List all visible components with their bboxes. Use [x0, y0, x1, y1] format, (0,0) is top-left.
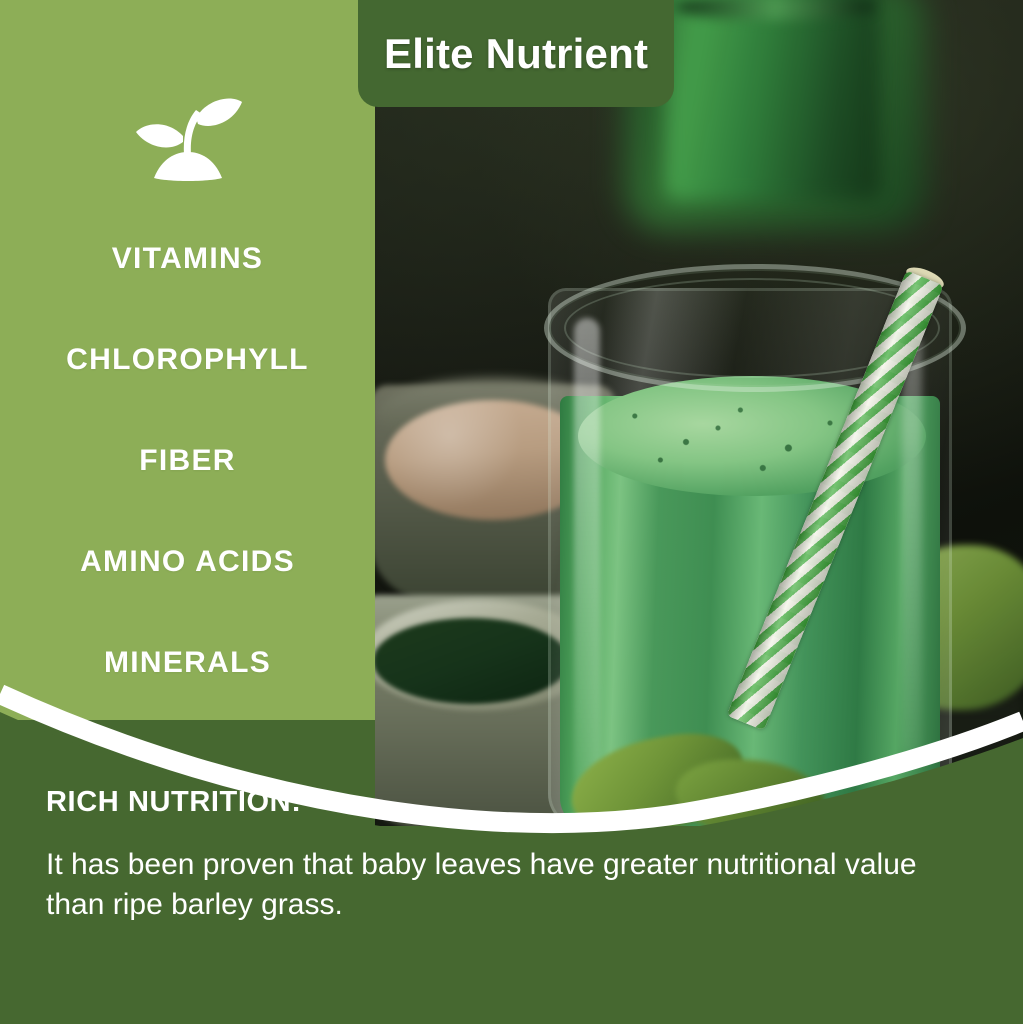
glass-highlight-left: [574, 318, 600, 798]
nutrient-list: VITAMINS CHLOROPHYLL FIBER AMINO ACIDS M…: [0, 208, 375, 713]
rich-nutrition-heading: RICH NUTRITION:: [46, 786, 977, 819]
smoothie-glass: [530, 248, 970, 826]
bottom-text-panel: RICH NUTRITION: It has been proven that …: [0, 764, 1023, 1024]
nutrient-item-amino-acids: AMINO ACIDS: [80, 511, 295, 612]
blurred-back-bottle: [665, 0, 880, 200]
product-photo: [375, 0, 1023, 826]
nutrient-sidebar: VITAMINS CHLOROPHYLL FIBER AMINO ACIDS M…: [0, 0, 375, 720]
nutrient-item-vitamins: VITAMINS: [112, 208, 264, 309]
title-badge: Elite Nutrient: [358, 0, 674, 107]
nutrient-item-chlorophyll: CHLOROPHYLL: [66, 309, 309, 410]
title-badge-text: Elite Nutrient: [384, 30, 648, 78]
poster-canvas: VITAMINS CHLOROPHYLL FIBER AMINO ACIDS M…: [0, 0, 1023, 1024]
rich-nutrition-body: It has been proven that baby leaves have…: [46, 845, 976, 924]
nutrient-item-fiber: FIBER: [139, 410, 236, 511]
sprout-icon: [128, 92, 248, 184]
glass-highlight-right: [902, 334, 922, 754]
nutrient-item-minerals: MINERALS: [104, 612, 271, 713]
